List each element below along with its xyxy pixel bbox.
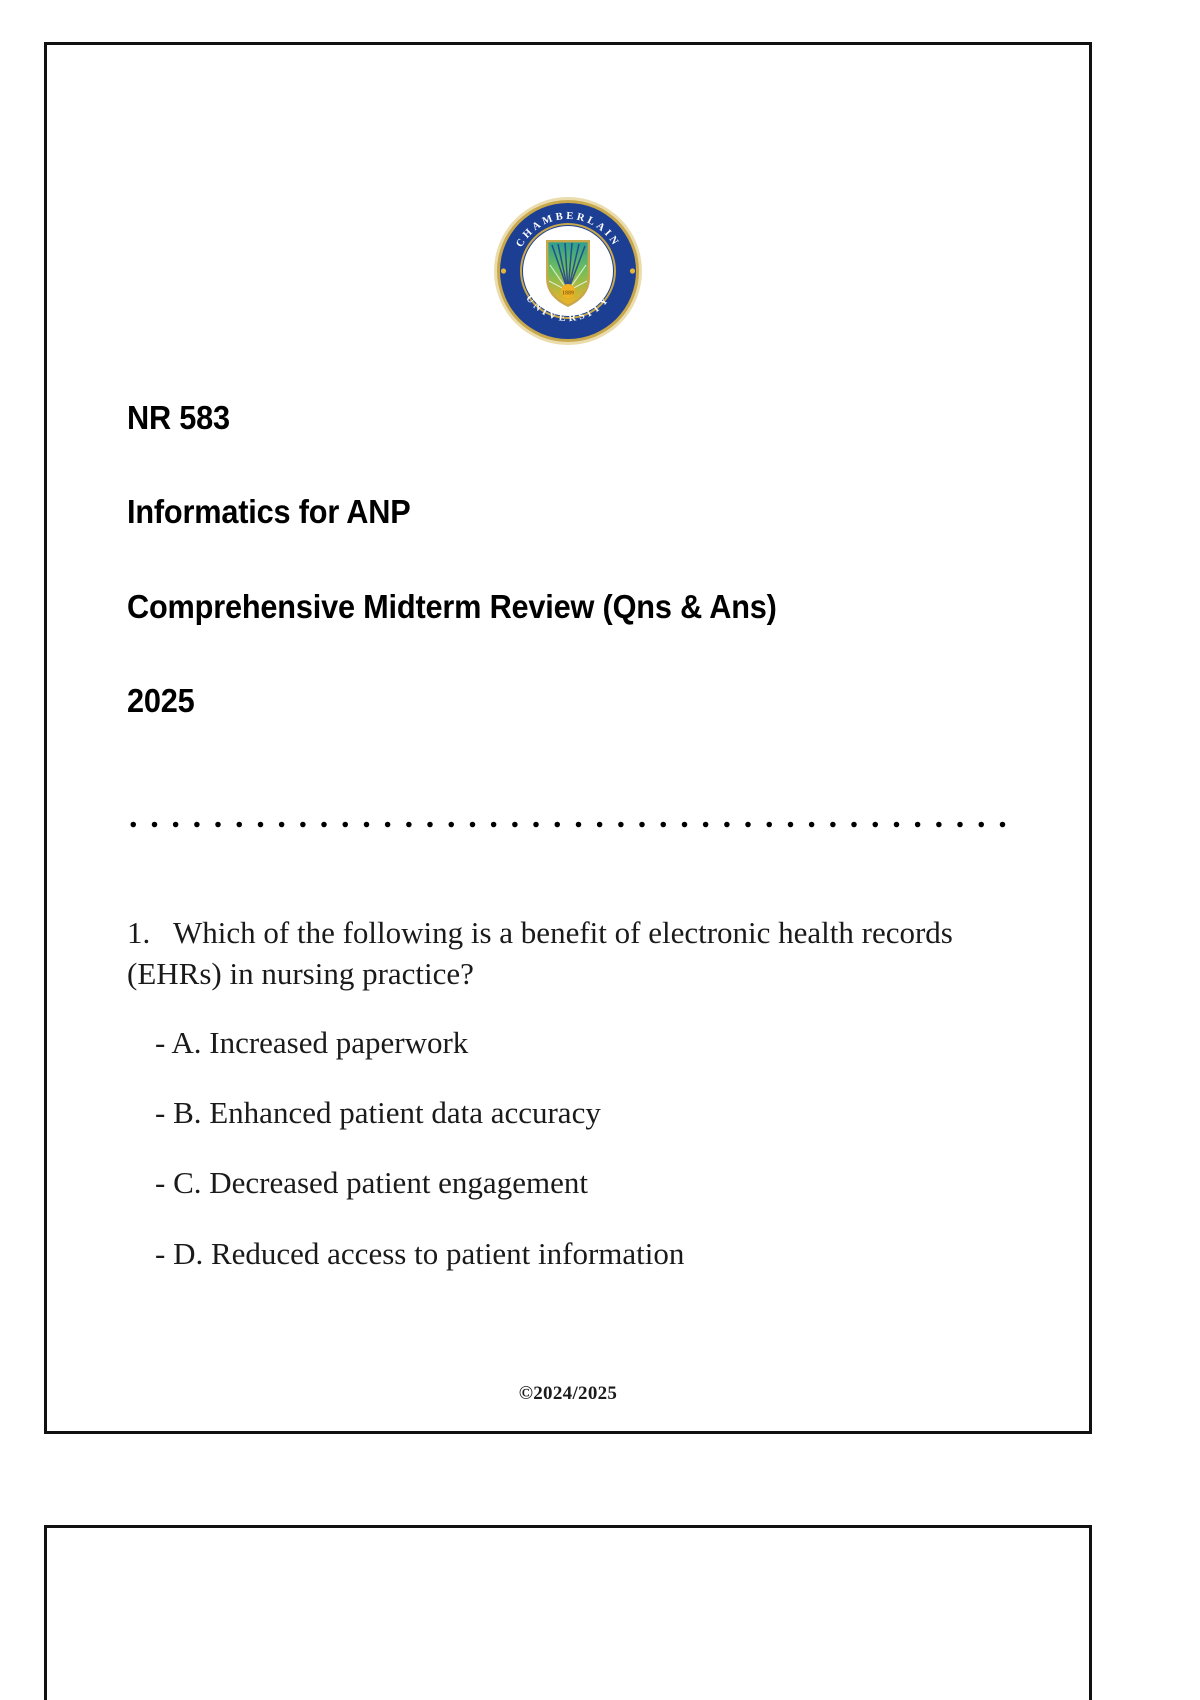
question-text: 1.Which of the following is a benefit of…: [127, 913, 1017, 995]
next-page-top-edge: [44, 1525, 1092, 1700]
course-code-heading: NR 583: [127, 400, 964, 436]
logo-container: CHAMBERLAIN UNIVERSITY: [47, 193, 1089, 349]
answer-option-a[interactable]: - A. Increased paperwork: [155, 1023, 1017, 1063]
course-name-heading: Informatics for ANP: [127, 494, 964, 530]
title-block: NR 583 Informatics for ANP Comprehensive…: [127, 400, 1027, 719]
question-block: 1.Which of the following is a benefit of…: [127, 913, 1017, 1274]
answer-option-d[interactable]: - D. Reduced access to patient informati…: [155, 1234, 1017, 1274]
answer-option-b[interactable]: - B. Enhanced patient data accuracy: [155, 1093, 1017, 1133]
dotted-divider: . . . . . . . . . . . . . . . . . . . . …: [129, 803, 1019, 831]
document-page: CHAMBERLAIN UNIVERSITY: [44, 42, 1092, 1434]
chamberlain-university-seal-icon: CHAMBERLAIN UNIVERSITY: [490, 193, 646, 349]
svg-text:1889: 1889: [562, 291, 574, 297]
question-number: 1.: [127, 913, 173, 954]
answer-option-c[interactable]: - C. Decreased patient engagement: [155, 1163, 1017, 1203]
page-footer-copyright: ©2024/2025: [47, 1383, 1089, 1405]
document-subject-heading: Comprehensive Midterm Review (Qns & Ans): [127, 589, 964, 625]
answer-options-list: - A. Increased paperwork - B. Enhanced p…: [127, 1023, 1017, 1274]
question-body: Which of the following is a benefit of e…: [127, 915, 953, 991]
year-heading: 2025: [127, 683, 964, 719]
